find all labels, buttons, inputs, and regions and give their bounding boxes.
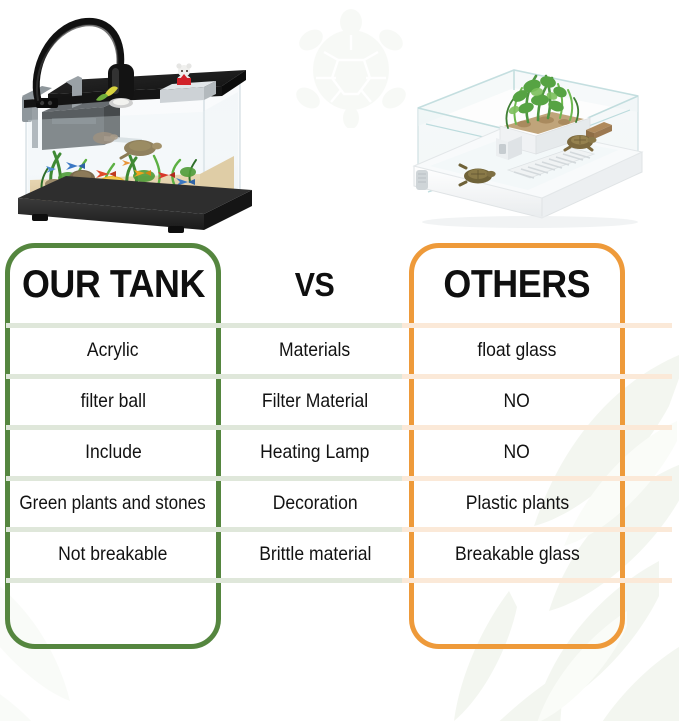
row-divider-1	[0, 425, 679, 430]
others-cell-2: NO	[409, 427, 625, 478]
others-value-3: Plastic plants	[465, 494, 568, 514]
row-divider-4	[0, 578, 679, 583]
others-cell-4: Breakable glass	[409, 529, 625, 580]
feature-label-4: Brittle material	[259, 545, 371, 565]
vs-header: VS	[226, 243, 404, 325]
our-tank-column: OUR TANK Acrylic filter ball Include Gre…	[5, 243, 221, 649]
others-value-1: NO	[504, 392, 530, 412]
feature-cell-4: Brittle material	[226, 529, 404, 580]
others-cell-1: NO	[409, 376, 625, 427]
feature-label-3: Decoration	[273, 494, 358, 514]
our-tank-photo	[8, 8, 260, 236]
feature-label-0: Materials	[279, 341, 350, 361]
our-tank-value-4: Not breakable	[58, 545, 167, 565]
infographic-canvas: OUR TANK Acrylic filter ball Include Gre…	[0, 0, 679, 721]
others-value-2: NO	[504, 443, 530, 463]
feature-cell-2: Heating Lamp	[226, 427, 404, 478]
turtle-watermark-icon	[286, 8, 416, 128]
feature-label-2: Heating Lamp	[260, 443, 369, 463]
feature-column: VS Materials Filter Material Heating Lam…	[226, 243, 404, 649]
others-value-4: Breakable glass	[455, 545, 580, 565]
others-header: OTHERS	[409, 243, 625, 325]
our-tank-cell-4: Not breakable	[5, 529, 221, 580]
feature-label-1: Filter Material	[262, 392, 368, 412]
our-tank-value-2: Include	[85, 443, 142, 463]
others-tank-photo	[404, 52, 652, 228]
others-column: OTHERS float glass NO NO Plastic plants …	[409, 243, 625, 649]
others-cell-3: Plastic plants	[409, 478, 625, 529]
our-tank-header-label: OUR TANK	[21, 265, 204, 304]
comparison-table: OUR TANK Acrylic filter ball Include Gre…	[0, 243, 679, 653]
our-tank-cell-1: filter ball	[5, 376, 221, 427]
our-tank-cell-2: Include	[5, 427, 221, 478]
others-header-label: OTHERS	[444, 265, 591, 304]
feature-cell-0: Materials	[226, 325, 404, 376]
others-value-0: float glass	[477, 341, 556, 361]
others-cell-0: float glass	[409, 325, 625, 376]
our-tank-value-3: Green plants and stones	[20, 494, 206, 513]
row-divider-3	[0, 527, 679, 532]
our-tank-cell-3: Green plants and stones	[5, 478, 221, 529]
row-divider-2	[0, 476, 679, 481]
row-divider-header	[0, 323, 679, 328]
vs-label: VS	[295, 268, 335, 301]
our-tank-cell-0: Acrylic	[5, 325, 221, 376]
feature-cell-1: Filter Material	[226, 376, 404, 427]
feature-cell-3: Decoration	[226, 478, 404, 529]
our-tank-header: OUR TANK	[5, 243, 221, 325]
row-divider-0	[0, 374, 679, 379]
our-tank-value-0: Acrylic	[87, 341, 139, 361]
our-tank-value-1: filter ball	[80, 392, 145, 412]
